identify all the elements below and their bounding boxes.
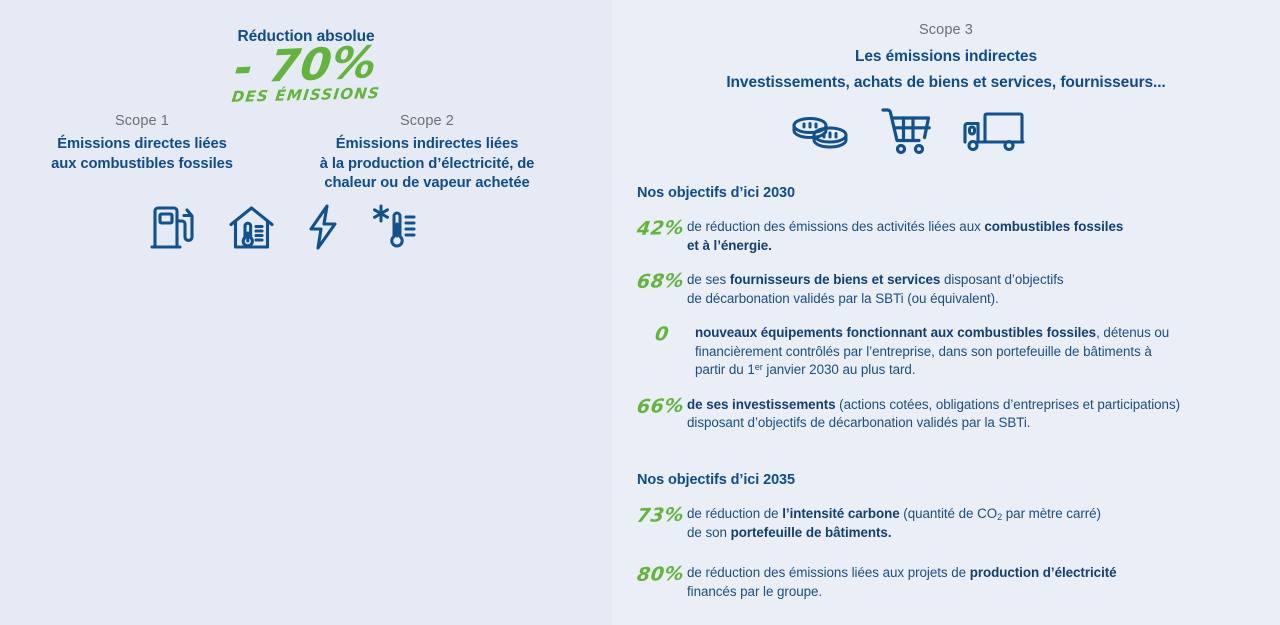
lightning-bolt-icon (307, 203, 339, 251)
scope-1-tag: Scope 1 (22, 113, 262, 129)
goals-2030-section: Nos objectifs d’ici 2030 42% de réductio… (637, 185, 1237, 433)
goal-value: 68% (636, 270, 689, 294)
infographic-root: Réduction absolue - 70% DES ÉMISSIONS Sc… (0, 0, 1280, 625)
goals-2035-section: Nos objectifs d’ici 2035 73% de réductio… (637, 472, 1237, 601)
scope-2-block: Scope 2 Émissions indirectes liées à la … (300, 113, 554, 194)
goal-description: de ses fournisseurs de biens et services… (687, 271, 1237, 308)
shopping-cart-icon (880, 106, 934, 156)
goal-value: 73% (636, 504, 689, 528)
absolute-reduction-value-wrap: - 70% (0, 44, 612, 88)
goals-2030-heading: Nos objectifs d’ici 2030 (637, 185, 1237, 201)
scope-1-title: Émissions directes liées aux combustible… (22, 135, 262, 174)
goal-item: 80% de réduction des émissions liées aux… (637, 564, 1237, 601)
goal-item: 66% de ses investissements (actions coté… (637, 396, 1237, 433)
goal-value: 0 (636, 322, 697, 346)
goal-value: 42% (636, 217, 689, 241)
left-icon-row (150, 196, 430, 258)
goal-description: de réduction de l’intensité carbone (qua… (687, 505, 1237, 542)
snowflake-thermometer-icon (371, 203, 421, 251)
absolute-reduction-value: - 70% (232, 41, 379, 91)
goal-value: 80% (636, 563, 689, 587)
goal-description: de réduction des émissions liées aux pro… (687, 564, 1237, 601)
absolute-reduction-sub-wrap: DES ÉMISSIONS (0, 87, 612, 105)
fuel-pump-icon (150, 203, 196, 251)
scope-2-title-line-2: à la production d’électricité, de (320, 156, 535, 172)
scope-1-title-line-1: Émissions directes liées (57, 136, 227, 152)
absolute-reduction-sub: DES ÉMISSIONS (231, 86, 381, 105)
scope-3-icon-row (790, 103, 1060, 159)
scope-1-title-line-2: aux combustibles fossiles (51, 156, 233, 172)
goal-value: 66% (636, 394, 689, 418)
goal-item: 0 nouveaux équipements fonctionnant aux … (637, 324, 1237, 380)
house-thermometer-icon (228, 203, 275, 251)
scope-2-title-line-3: chaleur ou de vapeur achetée (324, 175, 529, 191)
goals-2035-heading: Nos objectifs d’ici 2035 (637, 472, 1237, 488)
goal-item: 73% de réduction de l’intensité carbone … (637, 505, 1237, 542)
goal-description: nouveaux équipements fonctionnant aux co… (695, 324, 1237, 380)
scope-3-title-line-2: Investissements, achats de biens et serv… (612, 73, 1280, 94)
scope-1-block: Scope 1 Émissions directes liées aux com… (22, 113, 262, 174)
scope-2-title: Émissions indirectes liées à la producti… (300, 135, 554, 194)
goal-description: de ses investissements (actions cotées, … (687, 396, 1237, 433)
coins-icon (790, 109, 852, 153)
scope-2-tag: Scope 2 (300, 113, 554, 129)
delivery-truck-icon (962, 109, 1026, 153)
scope-3-tag: Scope 3 (612, 22, 1280, 38)
scope-3-title-line-1: Les émissions indirectes (612, 47, 1280, 68)
goal-item: 42% de réduction des émissions des activ… (637, 218, 1237, 255)
scope-3-title: Les émissions indirectes Investissements… (612, 47, 1280, 93)
goal-description: de réduction des émissions des activités… (687, 218, 1237, 255)
goal-item: 68% de ses fournisseurs de biens et serv… (637, 271, 1237, 308)
scope-2-title-line-1: Émissions indirectes liées (336, 136, 518, 152)
